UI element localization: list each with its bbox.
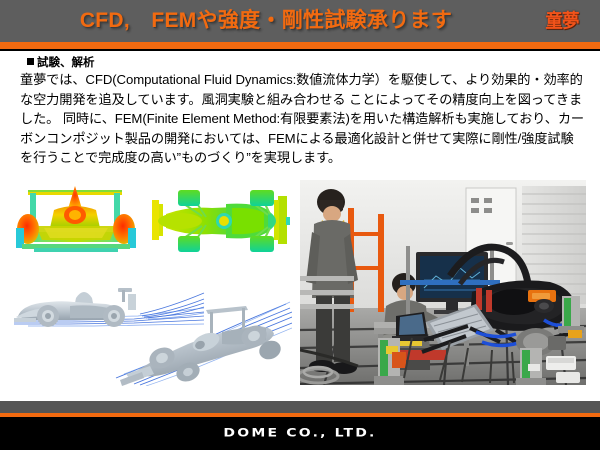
- header-accent-rule: [0, 42, 600, 49]
- section-heading-label: 試験、解析: [37, 57, 95, 69]
- footer-gray-band: [0, 401, 600, 413]
- page-title: CFD, FEMや強度・剛性試験承ります: [0, 0, 600, 42]
- cfd-front-view: [14, 182, 138, 265]
- section-heading: 試験、解析: [27, 54, 95, 70]
- header-divider-rule: [0, 49, 600, 51]
- square-bullet-icon: [27, 58, 34, 65]
- footer-wordmark: DOME CO., LTD.: [0, 420, 600, 447]
- page-header: CFD, FEMや強度・剛性試験承ります 童夢: [0, 0, 600, 42]
- cfd-figure-group: [14, 180, 292, 385]
- body-paragraph: 童夢では、CFD(Computational Fluid Dynamics:数値…: [20, 70, 586, 168]
- cfd-top-view: [150, 184, 290, 263]
- body-copy: 童夢では、CFD(Computational Fluid Dynamics:数値…: [20, 70, 586, 168]
- rig-test-photo: [300, 180, 586, 385]
- cfd-perspective-streamlines: [114, 300, 292, 391]
- dome-brand-logo: 童夢: [538, 9, 586, 35]
